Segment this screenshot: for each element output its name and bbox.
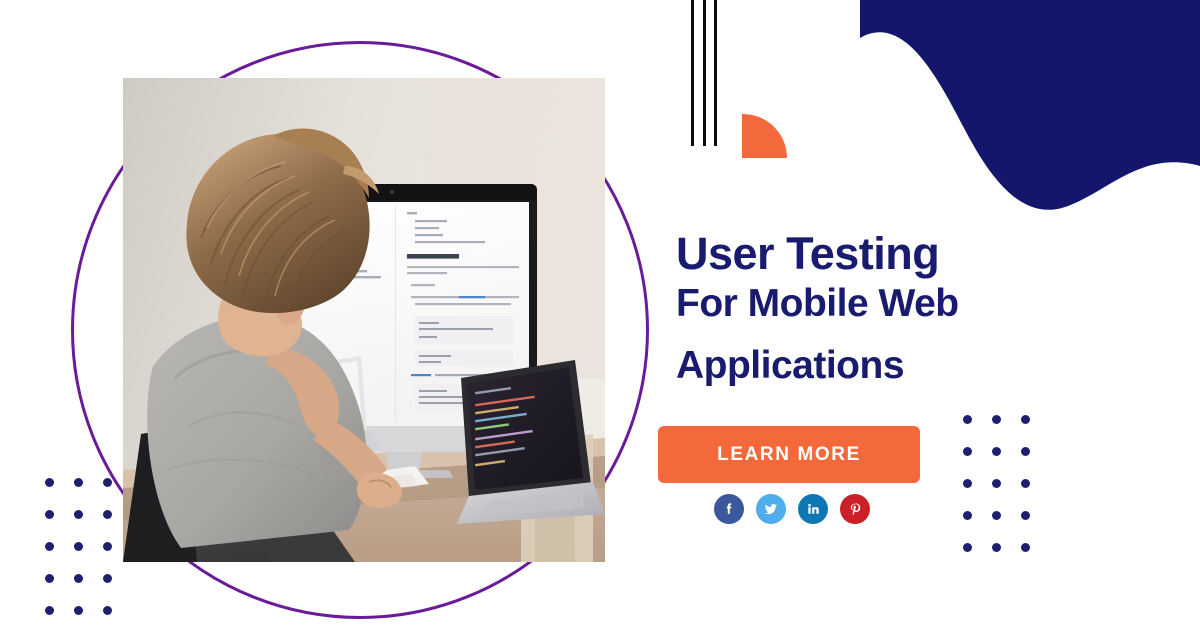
dot [74,478,83,487]
dot [963,447,972,456]
promo-banner: User Testing For Mobile Web Applications… [0,0,1200,628]
dot [74,606,83,615]
headline-line-3: Applications [676,342,1136,390]
dot [103,478,112,487]
hero-photo [123,78,605,562]
vertical-bars-decoration [691,0,717,146]
dot [1021,479,1030,488]
facebook-icon[interactable] [714,494,744,524]
linkedin-icon[interactable] [798,494,828,524]
dot-grid-right [963,415,1030,552]
dot [963,415,972,424]
dot [1021,543,1030,552]
dot [45,510,54,519]
dot [45,478,54,487]
dot [103,606,112,615]
dot [992,511,1001,520]
social-links [714,494,870,524]
dot [103,574,112,583]
page-title: User Testing For Mobile Web Applications [676,228,1136,390]
dot [74,574,83,583]
headline-block: User Testing For Mobile Web Applications [676,228,1136,390]
dot [45,606,54,615]
dot [963,543,972,552]
quarter-circle-decoration [742,114,787,158]
learn-more-button[interactable]: LEARN MORE [658,426,920,483]
pinterest-icon[interactable] [840,494,870,524]
dot [992,447,1001,456]
dot [1021,447,1030,456]
dot [103,510,112,519]
dot [45,574,54,583]
headline-line-1: User Testing [676,228,1136,280]
navy-wave-decoration [860,0,1200,260]
dot [74,510,83,519]
vertical-bar [703,0,706,146]
dot [74,542,83,551]
vertical-bar [714,0,717,146]
dot [992,415,1001,424]
dot [45,542,54,551]
dot [992,479,1001,488]
twitter-icon[interactable] [756,494,786,524]
dot [963,479,972,488]
dot [992,543,1001,552]
vertical-bar [691,0,694,146]
dot [1021,415,1030,424]
dot [963,511,972,520]
dot [1021,511,1030,520]
headline-line-2: For Mobile Web [676,280,1136,328]
dot [103,542,112,551]
dot-grid-left [45,478,112,615]
